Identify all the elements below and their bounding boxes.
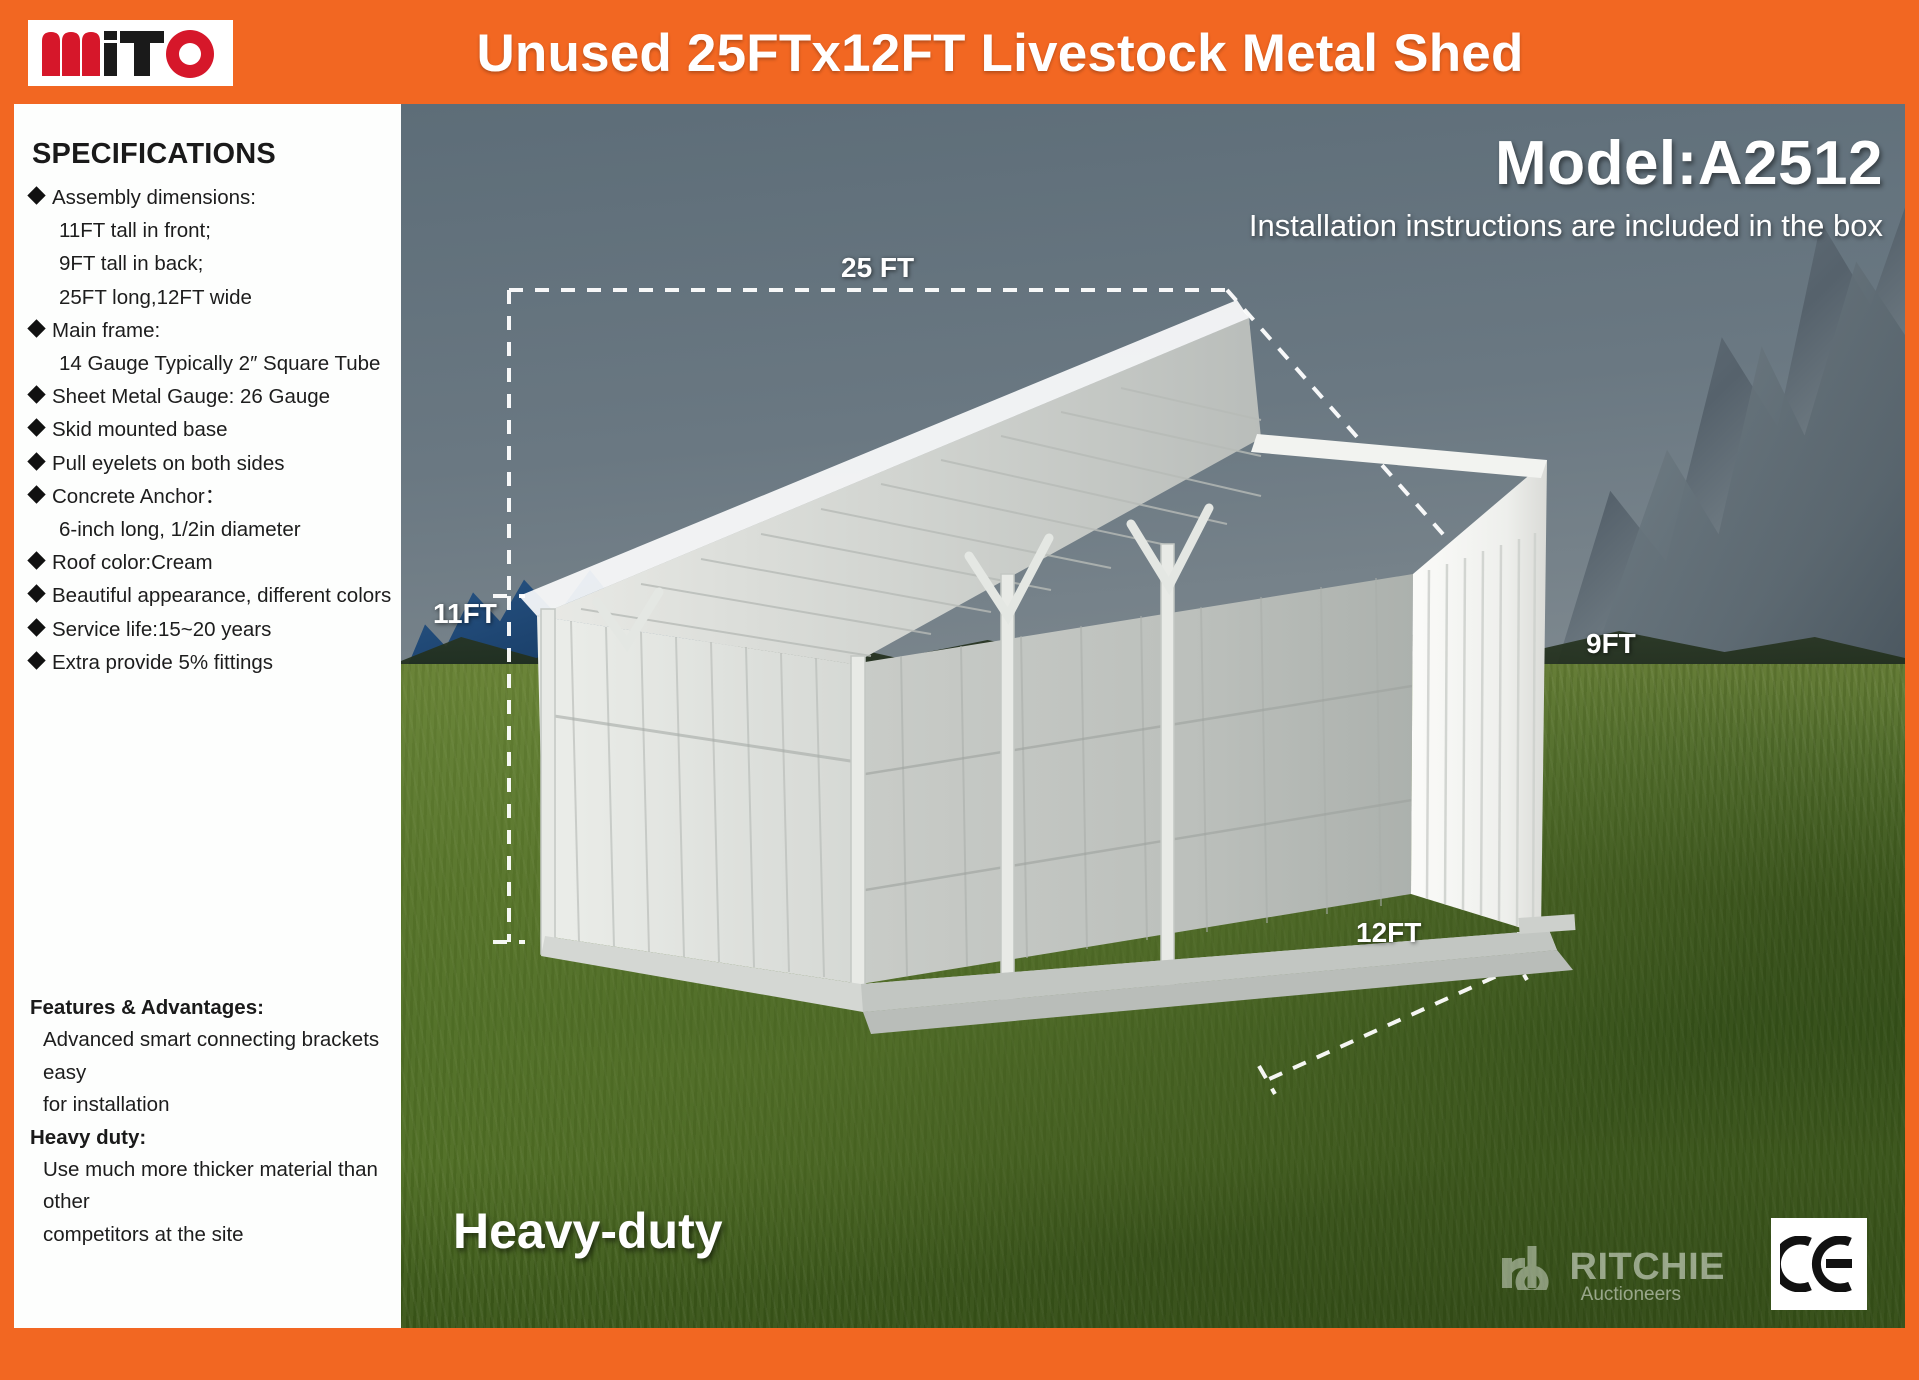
mito-logo [28,20,233,86]
spec-item: Extra provide 5% fittings [30,646,389,679]
spec-item-label: Skid mounted base [52,413,228,446]
spec-item-label: 6-inch long, 1/2in diameter [59,513,301,546]
diamond-bullet-icon [27,651,45,669]
spec-item: Pull eyelets on both sides [30,447,389,480]
features-line: for installation [30,1089,405,1121]
spec-item: 9FT tall in back; [30,247,389,280]
spec-item: Service life:15~20 years [30,613,389,646]
installation-note: Installation instructions are included i… [1249,208,1883,244]
diamond-bullet-icon [27,186,45,204]
diamond-bullet-icon [27,386,45,404]
spec-item-label: Assembly dimensions: [52,181,256,214]
specifications-panel: SPECIFICATIONS Assembly dimensions: 11FT… [14,104,401,1328]
content-frame: SPECIFICATIONS Assembly dimensions: 11FT… [14,104,1905,1328]
diamond-bullet-icon [27,585,45,603]
features-line: Advanced smart connecting brackets easy [30,1024,405,1089]
diamond-bullet-icon [27,419,45,437]
spec-item-label: 14 Gauge Typically 2″ Square Tube [59,347,380,380]
features-line: Use much more thicker material than othe… [30,1154,405,1219]
features-heading: Features & Advantages: [30,992,405,1024]
diamond-bullet-icon [27,452,45,470]
dimension-label-back-height: 9FT [1586,628,1636,660]
spec-item-label: 9FT tall in back; [59,247,203,280]
ritchie-watermark: RITCHIE Auctioneers [1498,1244,1726,1306]
spec-item-label: Service life:15~20 years [52,613,271,646]
dimension-label-length: 25 FT [841,252,914,284]
product-photo-scene: Model:A2512 Installation instructions ar… [401,104,1905,1328]
ce-mark [1771,1218,1867,1310]
spec-item: 25FT long,12FT wide [30,281,389,314]
spec-item-label: 11FT tall in front; [59,214,211,247]
diamond-bullet-icon [27,319,45,337]
banner-header: Unused 25FTx12FT Livestock Metal Shed [0,0,1919,104]
spec-item: 14 Gauge Typically 2″ Square Tube [30,347,389,380]
specifications-heading: SPECIFICATIONS [32,138,389,171]
page-title: Unused 25FTx12FT Livestock Metal Shed [250,10,1750,96]
spec-item-label: Concrete Anchor： [52,480,225,513]
spec-item: Assembly dimensions: [30,181,389,214]
diamond-bullet-icon [27,485,45,503]
model-label: Model:A2512 [1495,128,1883,199]
spec-item: Sheet Metal Gauge: 26 Gauge [30,380,389,413]
diamond-bullet-icon [27,618,45,636]
spec-item: Skid mounted base [30,413,389,446]
spec-item-label: Extra provide 5% fittings [52,646,273,679]
features-section: Features & Advantages: Advanced smart co… [30,992,405,1251]
dimension-label-front-height: 11FT [433,598,497,630]
spec-item-label: Main frame: [52,314,160,347]
watermark-brand: RITCHIE [1570,1246,1726,1289]
heavy-duty-label: Heavy-duty [453,1202,723,1260]
spec-item: Beautiful appearance, different colors [30,579,389,612]
spec-item: Roof color:Cream [30,546,389,579]
features-subheading: Heavy duty: [30,1122,405,1154]
product-banner: Unused 25FTx12FT Livestock Metal Shed SP… [0,0,1919,1380]
rb-logo [1498,1244,1560,1290]
spec-item-label: Beautiful appearance, different colors [52,579,391,612]
features-line: competitors at the site [30,1219,405,1251]
spec-item-label: Roof color:Cream [52,546,213,579]
spec-item: 6-inch long, 1/2in diameter [30,513,389,546]
spec-item: Main frame: [30,314,389,347]
spec-item-label: Sheet Metal Gauge: 26 Gauge [52,380,330,413]
spec-item-label: Pull eyelets on both sides [52,447,284,480]
spec-item: 11FT tall in front; [30,214,389,247]
diamond-bullet-icon [27,552,45,570]
metal-shed-illustration [401,104,1905,1328]
spec-item-label: 25FT long,12FT wide [59,281,252,314]
spec-item: Concrete Anchor： [30,480,389,513]
dimension-label-width: 12FT [1356,917,1421,949]
